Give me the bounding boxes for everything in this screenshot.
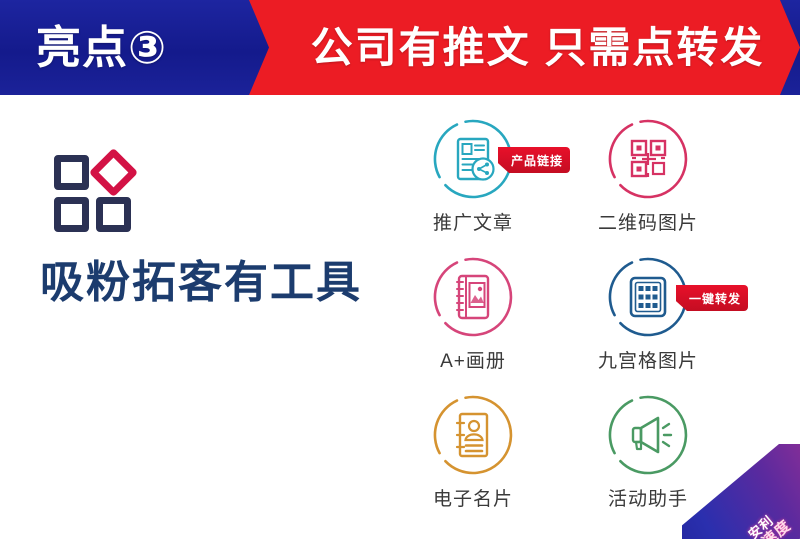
four-square-diamond-logo [54, 155, 166, 231]
feature-label: 电子名片 [398, 484, 548, 511]
logo-square-top-left [54, 155, 89, 190]
badge-label: 一键转发 [681, 290, 743, 307]
logo-square-bottom-right [96, 197, 131, 232]
logo-diamond-top-right [89, 148, 138, 197]
badge-one-click-forward: 一键转发 [676, 285, 748, 311]
content-area: 吸粉拓客有工具 [0, 95, 800, 539]
feature-label: 二维码图片 [573, 208, 723, 235]
megaphone-icon [606, 393, 690, 477]
feature-nine-grid-image[interactable]: 九宫格图片 [573, 255, 723, 373]
feature-promo-article[interactable]: 推广文章 [398, 117, 548, 235]
feature-e-business-card[interactable]: 电子名片 [398, 393, 548, 511]
feature-qr-code-image[interactable]: 二维码图片 [573, 117, 723, 235]
feature-a-plus-album[interactable]: A+画册 [398, 255, 548, 373]
photo-album-icon [431, 255, 515, 339]
feature-grid: 推广文章 产品链接 [398, 103, 778, 533]
business-card-icon [431, 393, 515, 477]
highlight-badge-label: 亮点③ [36, 25, 167, 70]
slide-root: 公司有推文 只需点转发 亮点③ 吸粉拓客有工具 [0, 0, 800, 539]
feature-event-assistant[interactable]: 活动助手 [573, 393, 723, 511]
brand-title: 吸粉拓客有工具 [40, 259, 390, 307]
feature-label: 九宫格图片 [573, 346, 723, 373]
header-red-arrow-banner: 公司有推文 只需点转发 [249, 0, 800, 95]
qr-code-icon [606, 117, 690, 201]
feature-label: A+画册 [398, 346, 548, 373]
brand-block: 吸粉拓客有工具 [40, 155, 390, 307]
badge-label: 产品链接 [503, 152, 565, 169]
feature-label: 活动助手 [573, 484, 723, 511]
header-banner: 公司有推文 只需点转发 亮点③ [0, 0, 800, 95]
header-title: 公司有推文 只需点转发 [285, 27, 765, 69]
feature-label: 推广文章 [398, 208, 548, 235]
header-blue-section: 亮点③ [0, 0, 300, 95]
badge-product-link: 产品链接 [498, 147, 570, 173]
logo-square-bottom-left [54, 197, 89, 232]
